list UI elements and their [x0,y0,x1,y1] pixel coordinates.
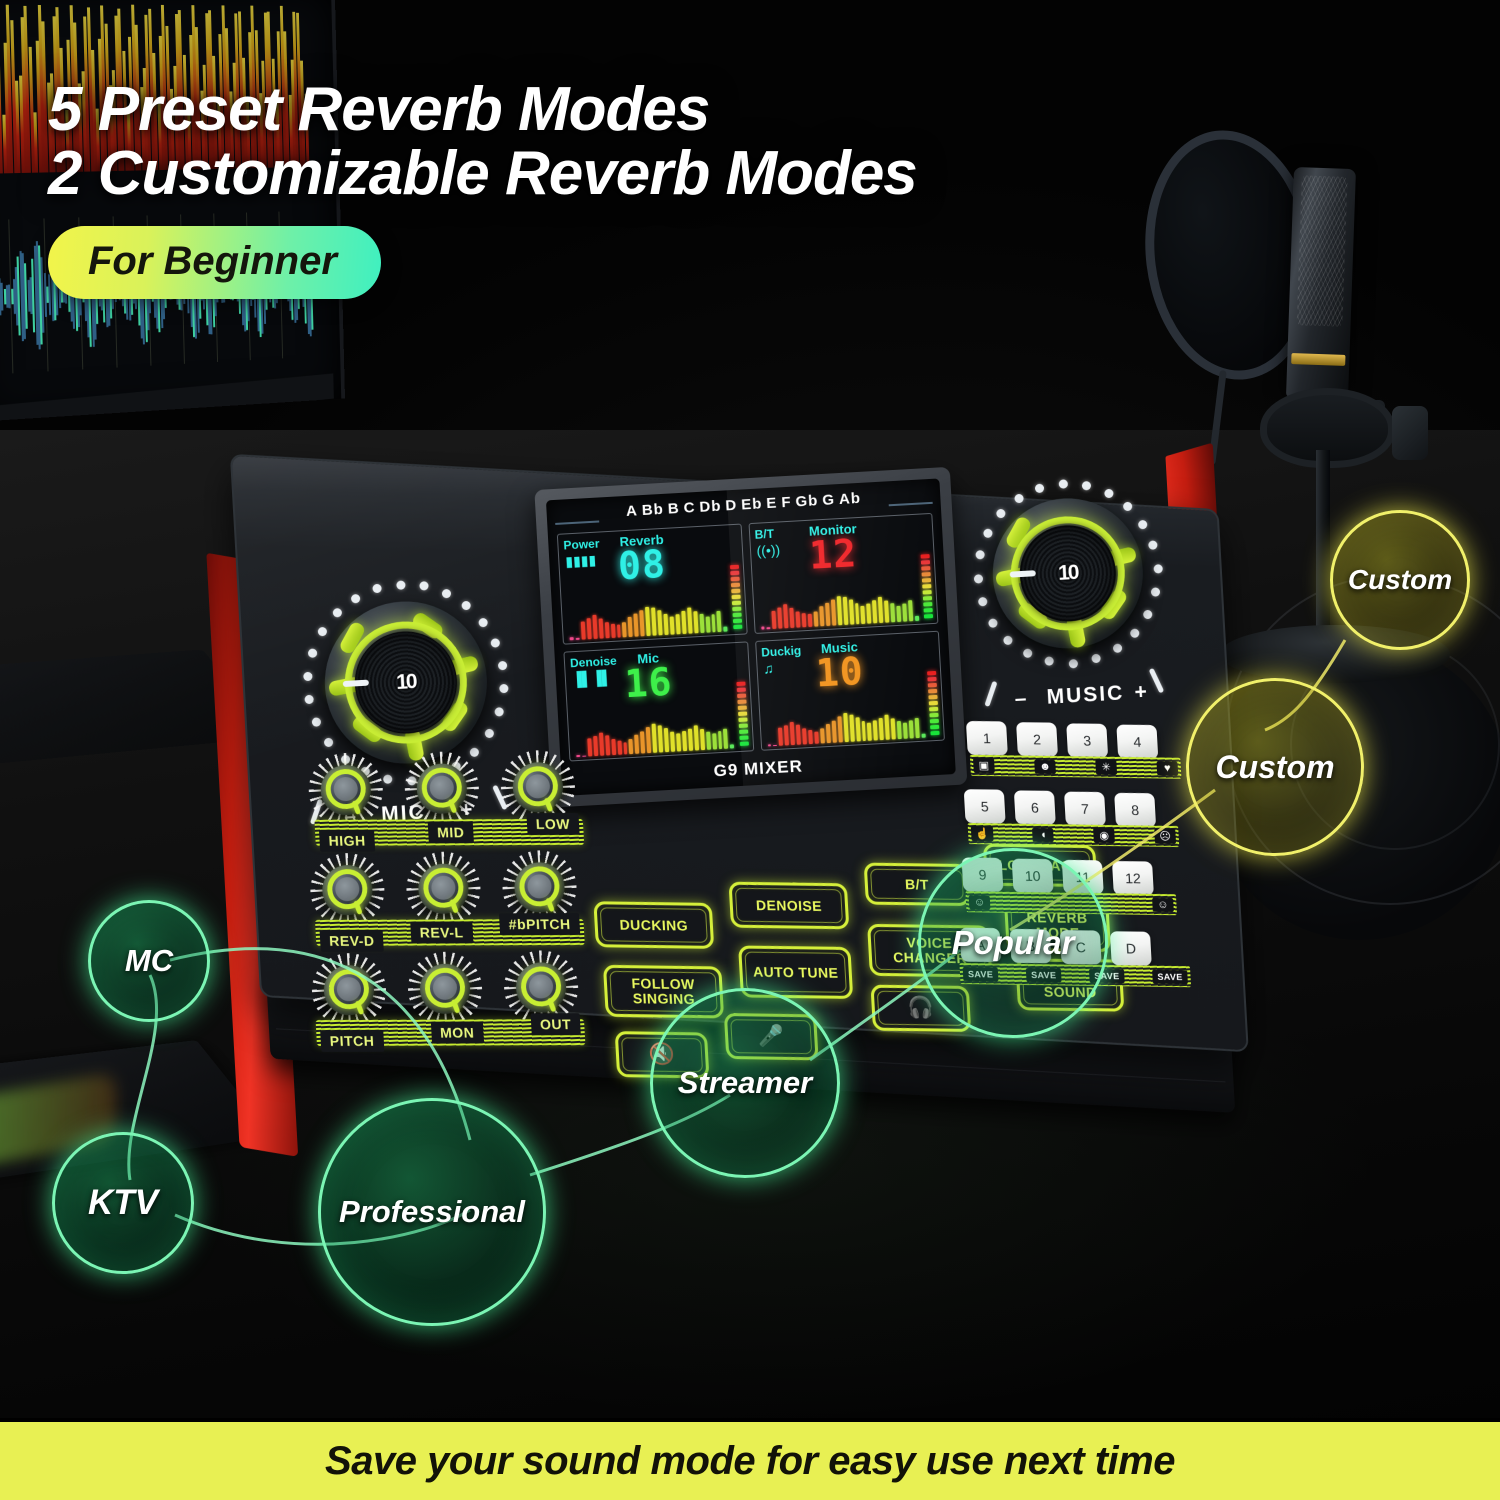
callout-custom-top[interactable]: Custom [1330,510,1470,650]
lcd-note-A: A [626,502,639,520]
lcd-screen[interactable]: ABbBCDbDEbEFGbGAb Power▮▮▮▮Reverb08B/T((… [546,478,956,796]
lcd-level-meter [919,518,934,618]
callout-ktv[interactable]: KTV [52,1132,194,1274]
lcd-param-value: 12 [750,531,916,578]
callout-streamer[interactable]: Streamer [650,988,840,1178]
mic-gold-band [1291,353,1345,366]
brand-logo-icon: 10 [396,670,417,695]
knob-label-strip: PITCHMONOUT [316,1019,586,1046]
mic-stand-pole [1316,450,1330,650]
lcd-note-Eb: Eb [741,495,763,513]
button-ducking[interactable]: DUCKING [593,901,714,949]
keypad-key-5[interactable]: 5 [964,789,1006,824]
callout-custom-bottom[interactable]: Custom [1186,678,1364,856]
knob-label-rev-l: REV-L [410,921,473,943]
knob-rev-l[interactable] [404,850,482,928]
knob-tick-mark [984,681,997,707]
knob-label-strip: HIGHMIDLOW [314,819,584,846]
lcd-note-B: B [667,500,680,518]
keypad-icon-strip: ▣☻✳♥ [970,755,1182,779]
knob-label--bpitch: #bPITCH [499,913,580,935]
confused-icon[interactable]: ☹ [1154,829,1176,844]
headline-block: 5 Preset Reverb Modes 2 Customizable Rev… [48,78,1478,299]
mount-adjust-knob[interactable] [1392,406,1428,460]
music-knob-minus-label: – [1014,687,1029,712]
knob-rev-d[interactable] [308,851,386,929]
knob-high[interactable] [307,751,385,829]
lcd-note-G: G [822,491,836,509]
save-button-4[interactable]: SAVE [1152,969,1188,983]
knob-label-high: HIGH [319,830,375,852]
lcd-note-E: E [766,495,778,513]
knob-label-low: LOW [526,813,579,835]
heart-icon[interactable]: ♥ [1156,761,1178,775]
lcd-param-value: 08 [559,542,725,589]
lcd-note-Bb: Bb [641,501,664,519]
lcd-panel-music: Duckig♫Music10 [755,630,945,751]
keypad-key-12[interactable]: 12 [1112,861,1154,896]
headline-line-1: 5 Preset Reverb Modes [48,78,1478,142]
lcd-param-value: 16 [565,659,731,706]
keypad-key-8[interactable]: 8 [1114,793,1156,828]
knob-label-rev-d: REV-D [320,930,385,952]
lcd-spectrum-analyzer [568,597,728,640]
lcd-level-meter [925,635,940,735]
headline-line-2: 2 Customizable Reverb Modes [48,142,1478,206]
knob-pitch[interactable] [310,951,388,1029]
lcd-level-meter [727,529,742,629]
knob-tick-mark [1149,668,1165,694]
keypad-key-2[interactable]: 2 [1016,722,1058,757]
lcd-spectrum-analyzer [759,586,919,629]
bottom-banner: Save your sound mode for easy use next t… [0,1418,1500,1500]
knob-label-out: OUT [530,1013,580,1035]
callout-professional[interactable]: Professional [318,1098,546,1326]
keypad-key-D[interactable]: D [1110,931,1152,966]
music-knob-label: MUSIC [1046,681,1125,709]
lcd-note-D: D [725,497,738,515]
music-volume-knob[interactable]: 10 [968,473,1168,673]
keypad-key-4[interactable]: 4 [1116,725,1158,760]
smile-icon[interactable]: ☺ [1152,897,1174,911]
laugh-icon[interactable]: ☻ [1034,759,1056,773]
keypad-key-7[interactable]: 7 [1064,792,1106,827]
lcd-note-Db: Db [699,498,722,516]
lcd-panel-monitor: B/T((•))Monitor12 [748,513,938,634]
lcd-note-F: F [781,494,792,512]
button-denoise[interactable]: DENOISE [728,882,849,930]
lcd-note-Ab: Ab [838,490,861,508]
keypad-key-1[interactable]: 1 [966,721,1008,756]
knob-label-strip: REV-DREV-L#bPITCH [315,919,585,946]
knob-label-pitch: PITCH [320,1030,384,1052]
knob-label-mid: MID [427,821,473,843]
keypad-key-6[interactable]: 6 [1014,790,1056,825]
lcd-display-bezel: ABbBCDbDEbEFGbGAb Power▮▮▮▮Reverb08B/T((… [534,467,967,808]
explosion-icon[interactable]: ✳ [1095,760,1117,775]
knob-mon[interactable] [406,950,484,1028]
lcd-spectrum-analyzer [574,714,734,757]
applause-icon[interactable]: ▣ [973,758,995,773]
lcd-panel-mic: Denoise▐▌▐▌Mic16 [563,641,753,762]
lcd-spectrum-analyzer [766,704,926,747]
monitor-bezel [0,373,334,421]
thumbs-up-icon[interactable]: ☝ [971,826,994,841]
lcd-param-value: 10 [757,648,923,695]
callout-mc[interactable]: MC [88,900,210,1022]
banner-text: Save your sound mode for easy use next t… [325,1439,1175,1484]
lcd-note-Gb: Gb [795,492,819,510]
keypad-icon-strip: ☝◖◉☹ [968,823,1180,847]
lcd-level-meter [734,646,749,746]
for-beginner-badge: For Beginner [48,226,381,299]
lcd-panel-grid: Power▮▮▮▮Reverb08B/T((•))Monitor12Denois… [557,513,945,762]
eq-knob-array: HIGHMIDLOWREV-DREV-L#bPITCHPITCHMONOUT [307,740,594,1035]
surprise-icon[interactable]: ◉ [1093,828,1115,843]
keypad-key-3[interactable]: 3 [1066,723,1108,758]
callout-popular[interactable]: Popular [918,848,1108,1038]
water-drop-icon[interactable]: ◖ [1032,827,1054,841]
lcd-note-C: C [683,499,696,517]
knob-mid[interactable] [403,750,481,828]
knob-label-mon: MON [430,1021,483,1043]
lcd-panel-reverb: Power▮▮▮▮Reverb08 [557,524,747,645]
music-knob-plus-label: + [1134,680,1150,705]
brand-logo-icon: 10 [1057,561,1078,586]
